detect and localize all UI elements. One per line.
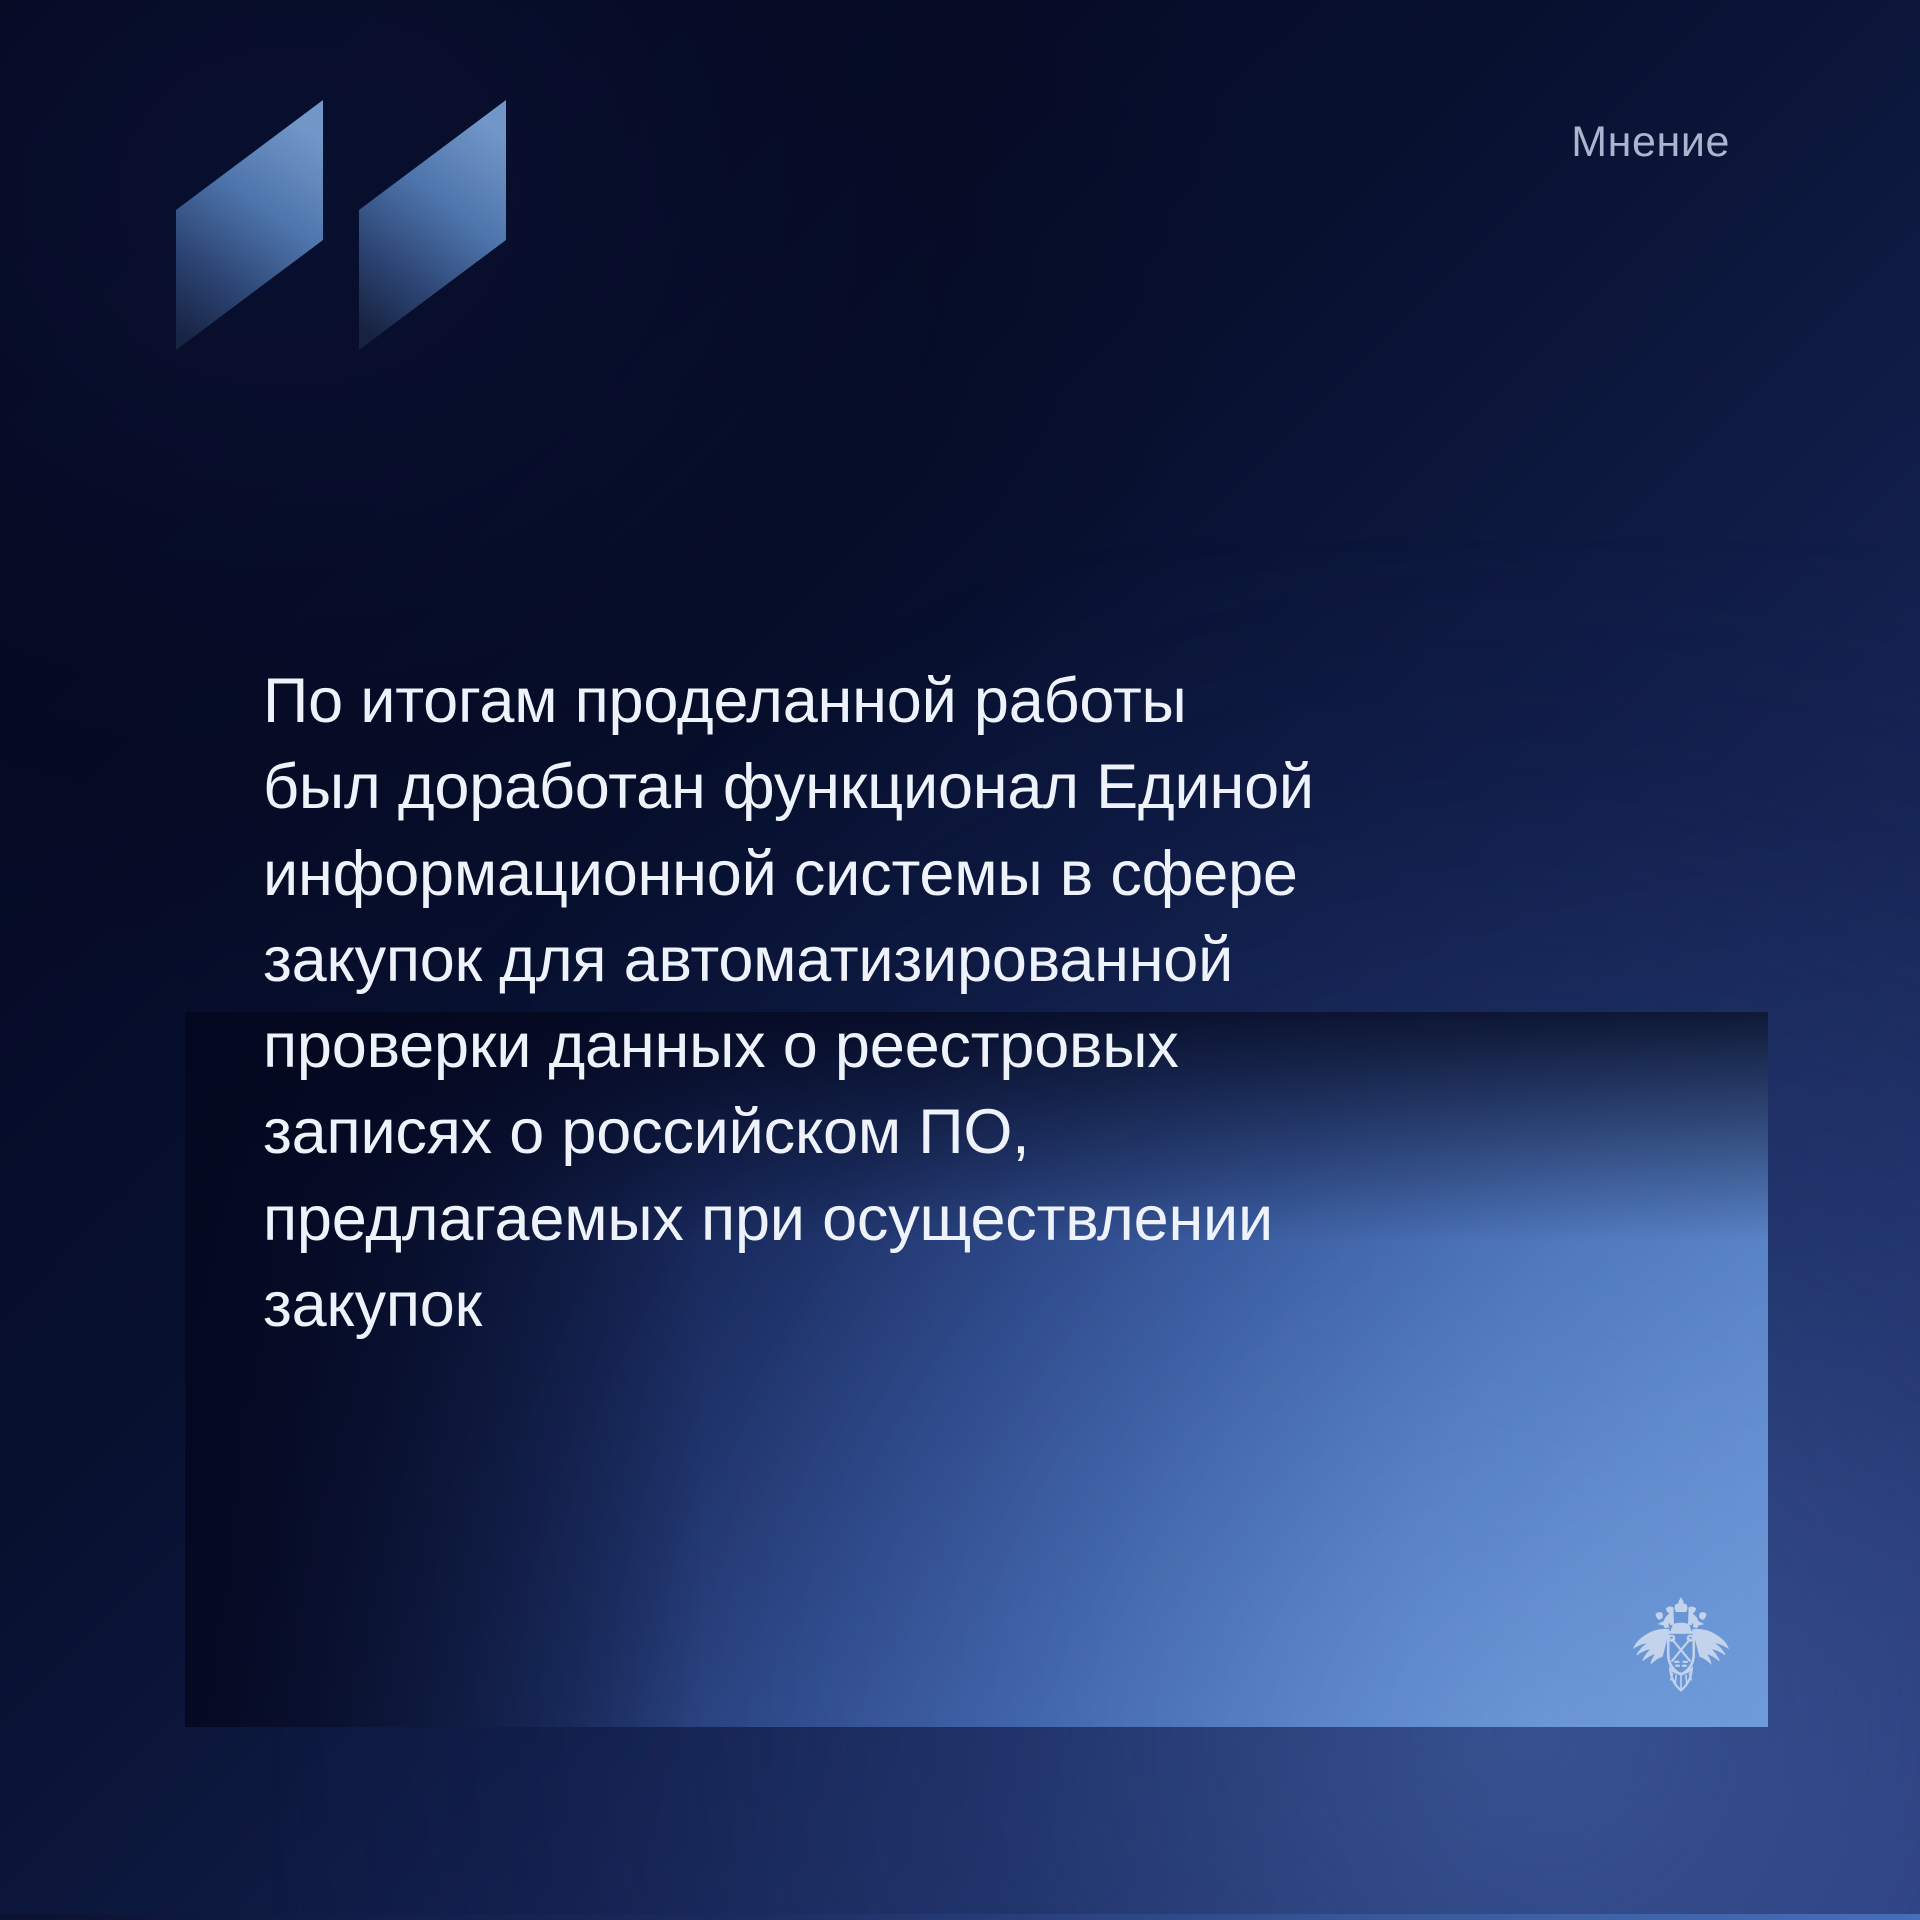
quote-line: предлагаемых при осуществлении bbox=[263, 1176, 1453, 1262]
logo-icon bbox=[128, 78, 548, 378]
quote-line: был доработан функционал Единой bbox=[263, 744, 1453, 830]
social-card: Мнение По итогам проделанной работы был … bbox=[0, 0, 1920, 1920]
brand-logo bbox=[128, 78, 548, 378]
quote-line: закупок для автоматизированной bbox=[263, 917, 1453, 1003]
quote-text: По итогам проделанной работы был доработ… bbox=[263, 658, 1453, 1348]
double-headed-eagle-icon bbox=[1622, 1592, 1740, 1710]
quote-line: записях о российском ПО, bbox=[263, 1089, 1453, 1175]
bottom-accent-line bbox=[0, 1914, 1920, 1920]
quote-line: закупок bbox=[263, 1262, 1453, 1348]
quote-line: информационной системы в сфере bbox=[263, 831, 1453, 917]
section-label: Мнение bbox=[1571, 118, 1730, 167]
ministry-emblem bbox=[1622, 1592, 1740, 1710]
quote-line: По итогам проделанной работы bbox=[263, 658, 1453, 744]
quote-line: проверки данных о реестровых bbox=[263, 1003, 1453, 1089]
